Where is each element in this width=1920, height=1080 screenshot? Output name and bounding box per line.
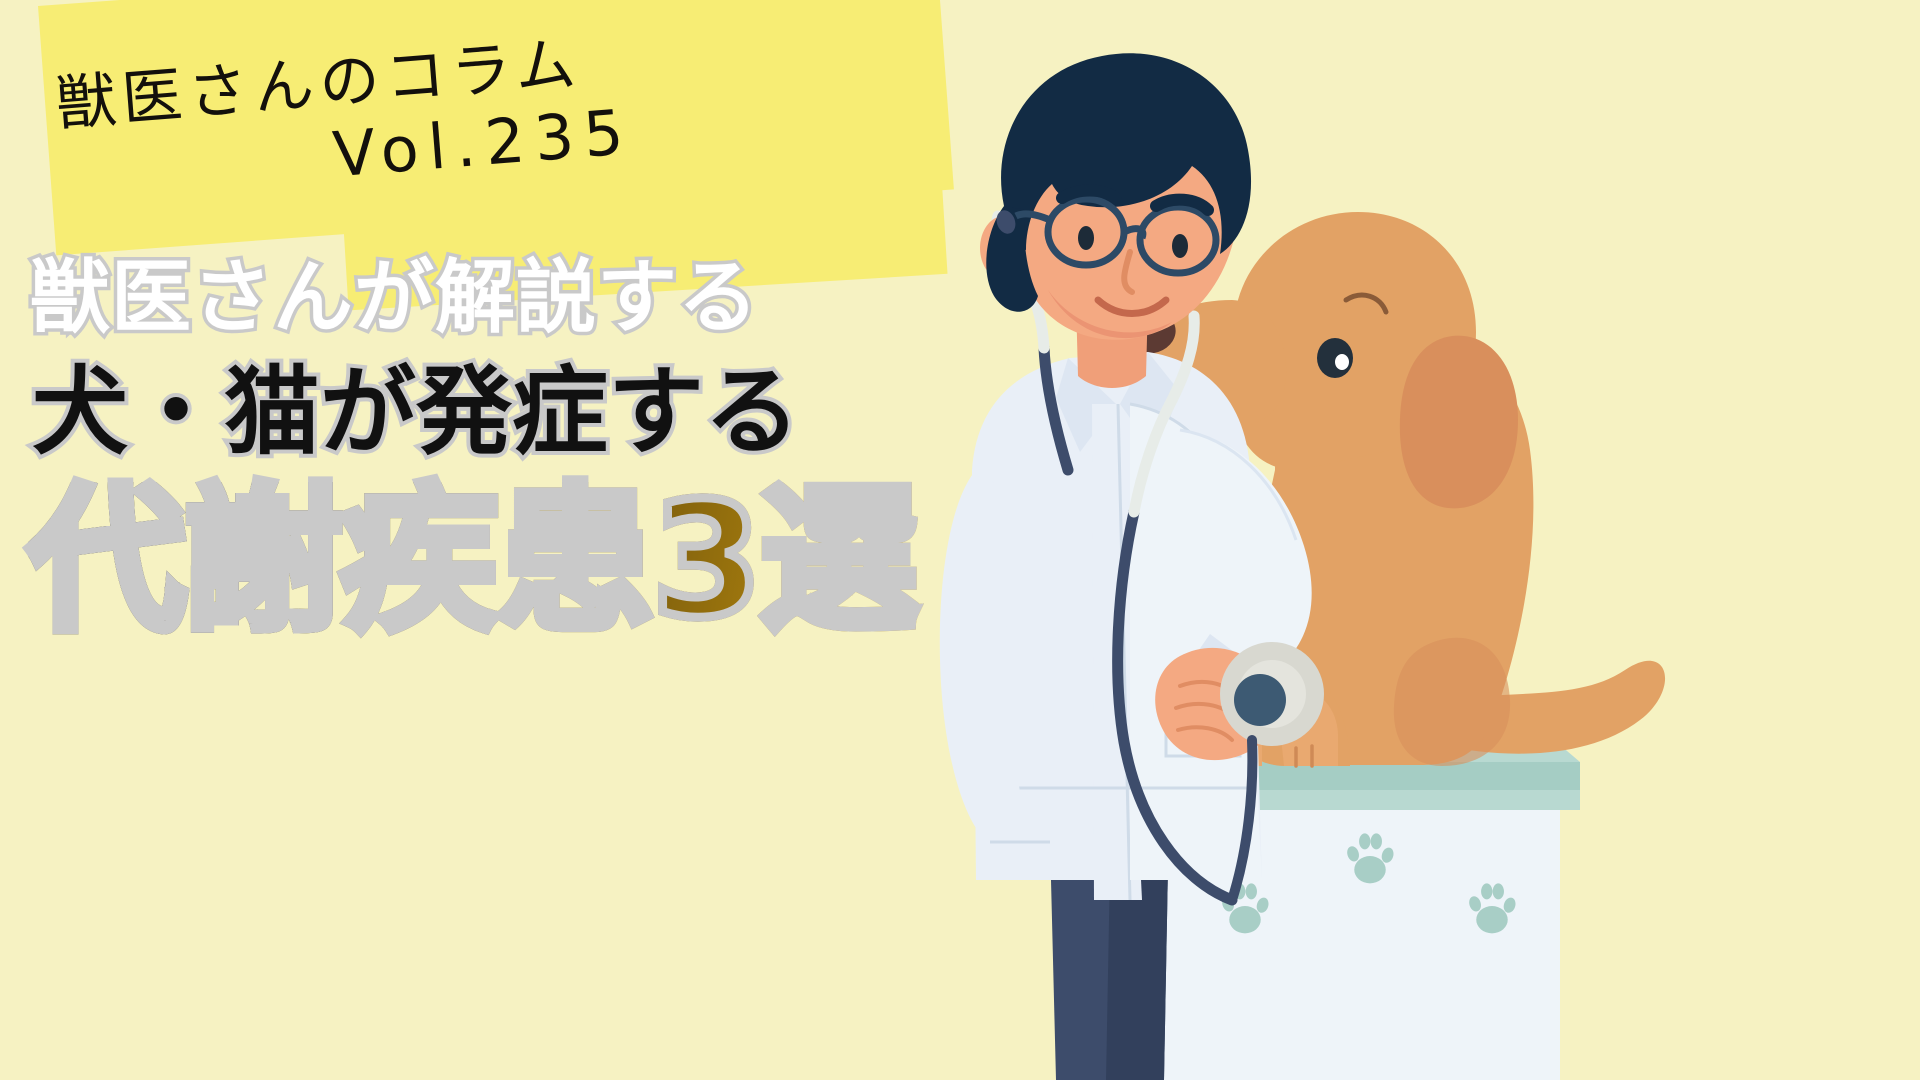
veterinarian-illustration bbox=[880, 0, 1920, 1080]
poster-canvas: 獣医さんのコラム Vol.235 獣医さんが解説する 犬・猫が発症する 代謝疾患… bbox=[0, 0, 1920, 1080]
doctor-head bbox=[980, 53, 1251, 340]
